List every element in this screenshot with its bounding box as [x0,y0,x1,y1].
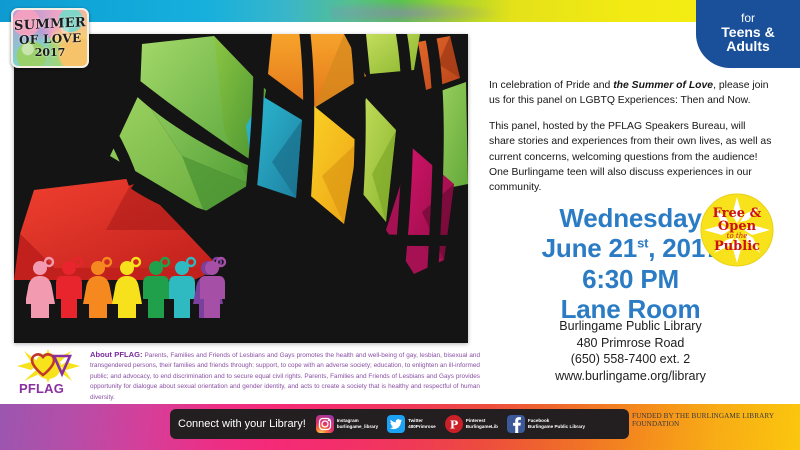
summer-of-love-text: SUMMER OF LOVE 2017 [13,10,87,66]
twitter-label: Twitter 480Primrose [408,418,436,429]
free-line4: Public [714,240,760,253]
teens-badge-line1: for [741,12,755,25]
paragraph-2: This panel, hosted by the PFLAG Speakers… [489,119,772,196]
social-pinterest[interactable]: P Pinterest BurlingameLib [445,415,498,433]
people-figure-8-graphic [200,256,230,318]
figure-3 [83,258,113,318]
figure-6 [169,258,195,318]
about-pflag-heading: About PFLAG: [90,350,143,359]
description-copy: In celebration of Pride and the Summer o… [489,78,772,206]
connect-label: Connect with your Library! [178,418,306,430]
figure-1 [26,258,55,318]
event-time: 6:30 PM [489,264,772,294]
about-pflag-body: Parents, Families and Friends of Lesbian… [90,352,480,401]
pinterest-label: Pinterest BurlingameLib [466,418,498,429]
summer-of-love-badge: SUMMER OF LOVE 2017 [11,8,89,68]
instagram-label: Instagram burlingame_library [337,418,378,429]
social-instagram[interactable]: Instagram burlingame_library [316,415,378,433]
pflag-wordmark: PFLAG [19,381,64,396]
social-facebook[interactable]: Facebook Burlingame Public Library [507,415,585,433]
people-figures-graphic [26,256,224,318]
venue-name: Burlingame Public Library [489,318,772,335]
sol-line3: 2017 [35,46,66,59]
free-open-text: Free & Open to the Public [700,193,774,267]
pinterest-icon[interactable]: P [445,415,463,433]
sol-line2: OF LOVE [19,31,81,47]
free-open-badge: Free & Open to the Public [700,193,774,267]
teens-badge-line2: Teens & [721,25,774,40]
event-date-main: June 21 [542,233,637,263]
svg-text:P: P [450,419,458,432]
venue-website[interactable]: www.burlingame.org/library [489,368,772,385]
figure-5 [143,258,169,318]
paragraph-1: In celebration of Pride and the Summer o… [489,78,772,109]
facebook-icon[interactable] [507,415,525,433]
twitter-handle: 480Primrose [408,424,436,430]
teens-badge-line3: Adults [726,39,770,54]
venue-address: 480 Primrose Road [489,335,772,352]
social-footer-bar: Connect with your Library! Instagram bur… [170,409,629,439]
pflag-heart-triangle-icon [14,348,86,384]
instagram-handle: burlingame_library [337,424,378,430]
about-pflag-text: About PFLAG: Parents, Families and Frien… [90,349,480,403]
facebook-label: Facebook Burlingame Public Library [528,418,585,429]
pflag-logo: PFLAG [14,348,86,396]
event-poster: for Teens & Adults SUMMER OF LOVE 2017 [0,0,800,450]
pinterest-handle: BurlingameLib [466,424,498,430]
funded-by-text: FUNDED BY THE BURLINGAME LIBRARY FOUNDAT… [632,412,794,428]
facebook-handle: Burlingame Public Library [528,424,585,430]
venue-details: Burlingame Public Library 480 Primrose R… [489,318,772,384]
rainbow-blot [330,0,510,22]
figure-4 [112,258,142,318]
top-rainbow-strip [0,0,800,22]
venue-phone: (650) 558-7400 ext. 2 [489,351,772,368]
event-date-ordinal: st [637,236,648,251]
social-twitter[interactable]: Twitter 480Primrose [387,415,436,433]
teens-adults-badge: for Teens & Adults [696,0,800,68]
figure-8 [200,258,225,318]
twitter-icon[interactable] [387,415,405,433]
figure-2 [56,258,82,318]
instagram-icon[interactable] [316,415,334,433]
para1-part-a: In celebration of Pride and [489,80,613,91]
para1-emphasis: the Summer of Love [613,80,713,91]
